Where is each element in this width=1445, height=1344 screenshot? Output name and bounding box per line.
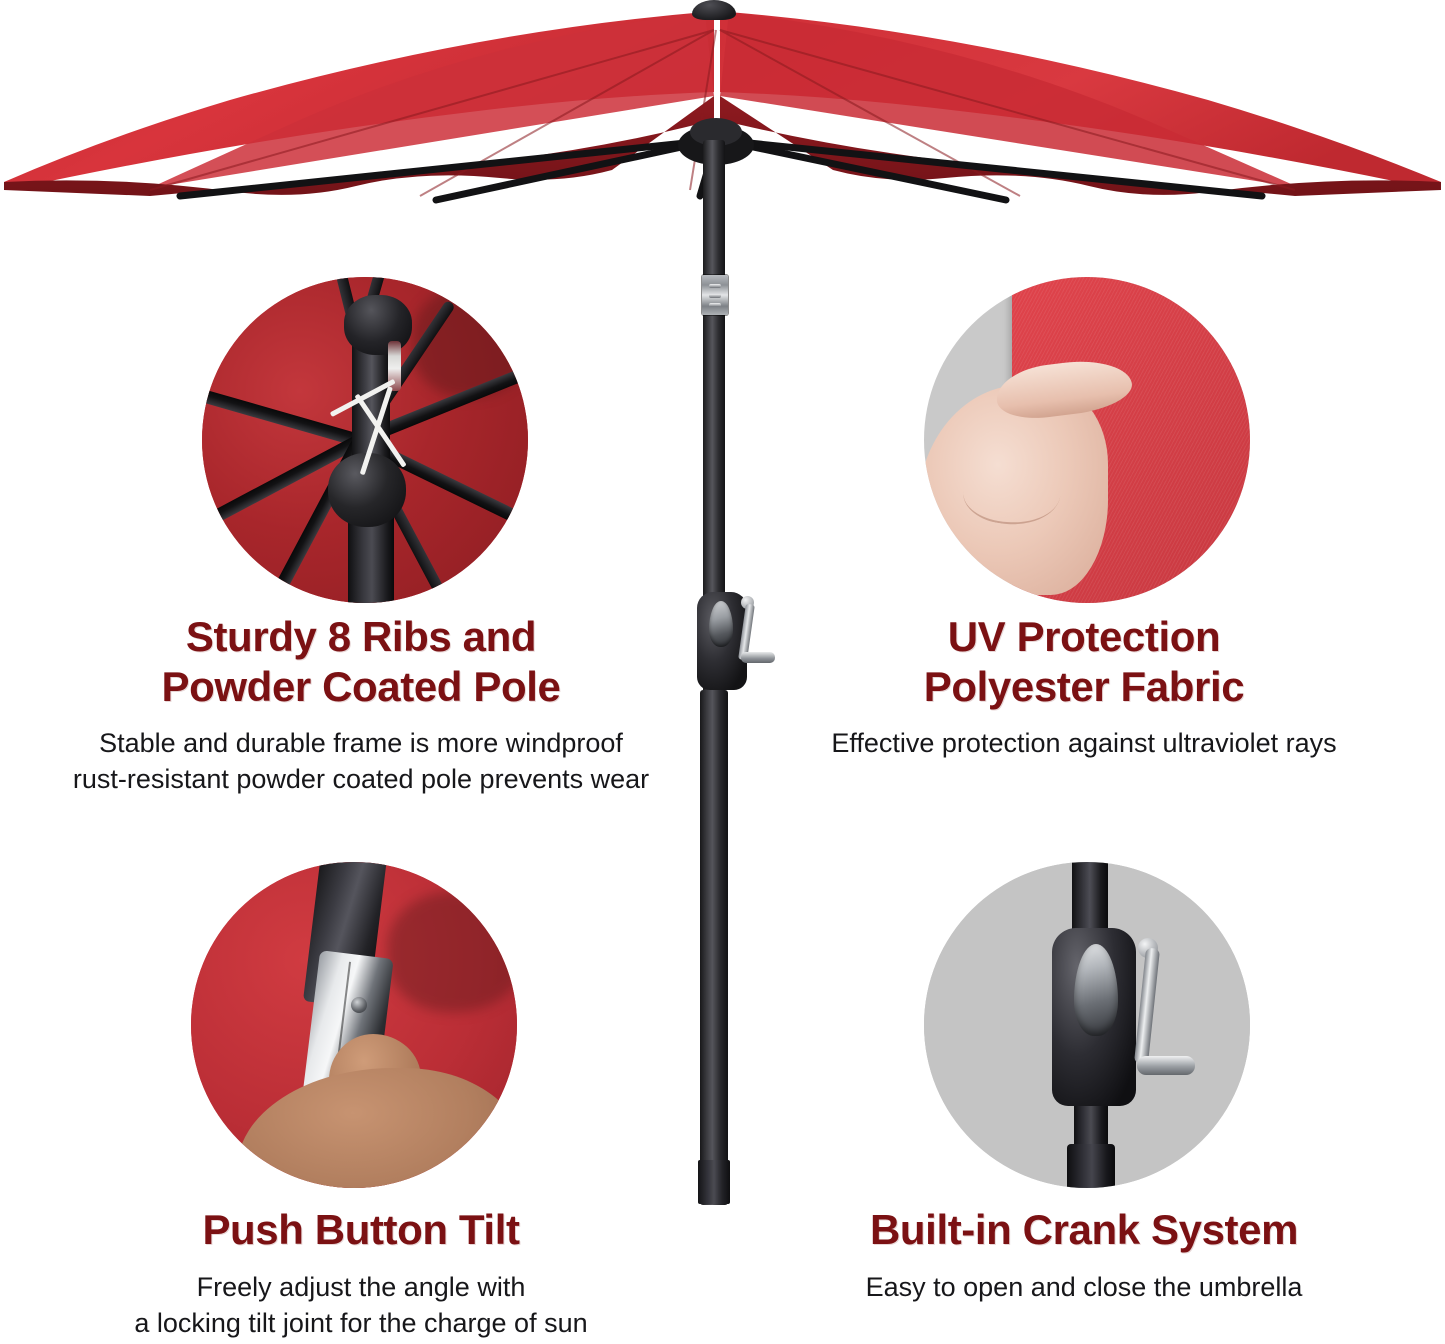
tilt-joint-collar — [702, 275, 728, 315]
feature-image-ribs — [202, 277, 528, 603]
feature-description-ribs: Stable and durable frame is more windpro… — [0, 725, 722, 797]
feature-text-tilt: Push Button Tilt Freely adjust the angle… — [0, 1205, 722, 1341]
feature-image-crank — [924, 862, 1250, 1188]
feature-title-crank: Built-in Crank System — [723, 1205, 1445, 1255]
feature-title-ribs: Sturdy 8 Ribs and Powder Coated Pole — [0, 612, 722, 711]
feature-title-uv: UV Protection Polyester Fabric — [723, 612, 1445, 711]
feature-text-uv: UV Protection Polyester Fabric Effective… — [723, 612, 1445, 761]
feature-title-tilt: Push Button Tilt — [0, 1205, 722, 1255]
feature-text-crank: Built-in Crank System Easy to open and c… — [723, 1205, 1445, 1305]
feature-description-crank: Easy to open and close the umbrella — [723, 1269, 1445, 1305]
pole-bottom-cap — [698, 1160, 730, 1204]
feature-image-uv — [924, 277, 1250, 603]
feature-description-uv: Effective protection against ultraviolet… — [723, 725, 1445, 761]
feature-text-ribs: Sturdy 8 Ribs and Powder Coated Pole Sta… — [0, 612, 722, 797]
infographic-canvas: Sturdy 8 Ribs and Powder Coated Pole Sta… — [0, 0, 1445, 1344]
feature-description-tilt: Freely adjust the angle with a locking t… — [0, 1269, 722, 1341]
umbrella-finial — [692, 0, 736, 20]
feature-image-tilt — [191, 862, 517, 1188]
